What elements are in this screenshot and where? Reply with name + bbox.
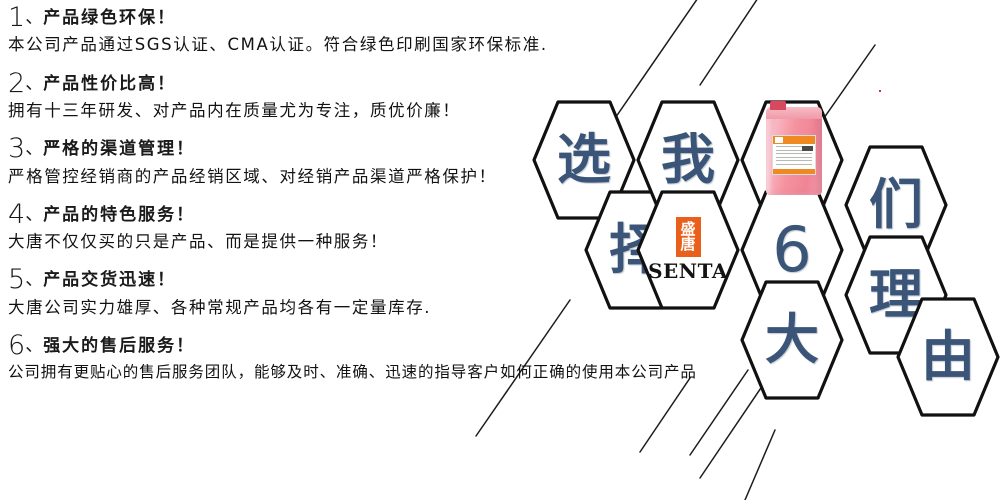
reason-title: 强大的售后服务！ bbox=[43, 336, 195, 356]
label-text-line bbox=[776, 160, 812, 161]
reason-separator: 、 bbox=[25, 335, 43, 356]
jerrycan-label bbox=[772, 135, 816, 175]
reason-separator: 、 bbox=[25, 7, 43, 28]
reason-item: 6、强大的售后服务！ 公司拥有更贴心的售后服务团队，能够及时、准确、迅速的指导客… bbox=[8, 332, 668, 383]
reason-body: 公司拥有更贴心的售后服务团队，能够及时、准确、迅速的指导客户如何正确的使用本公司… bbox=[8, 362, 668, 383]
jerrycan-icon bbox=[766, 107, 822, 195]
reason-number: 1 bbox=[8, 2, 25, 33]
reason-separator: 、 bbox=[25, 73, 43, 94]
reason-title: 产品的特色服务！ bbox=[43, 205, 195, 225]
label-footer-bar bbox=[773, 169, 815, 174]
reason-separator: 、 bbox=[25, 269, 43, 290]
logo-char-bottom: 唐 bbox=[680, 237, 695, 252]
brand-logo: 盛 唐 SENTA bbox=[636, 190, 740, 310]
reason-item: 5、产品交货迅速！ 大唐公司实力雄厚、各种常规产品均各有一定量库存. bbox=[8, 266, 668, 319]
hex-cell-da[interactable]: 大 bbox=[740, 280, 844, 400]
reason-separator: 、 bbox=[25, 204, 43, 225]
product-photo[interactable] bbox=[752, 97, 836, 203]
hex-label: 大 bbox=[740, 280, 844, 400]
reason-body: 大唐公司实力雄厚、各种常规产品均各有一定量库存. bbox=[8, 297, 668, 319]
hex-label: 由 bbox=[896, 297, 1000, 417]
reason-body: 大唐不仅仅买的只是产品、而是提供一种服务！ bbox=[8, 231, 668, 253]
reason-body: 本公司产品通过SGS认证、CMA认证。符合绿色印刷国家环保标准. bbox=[8, 34, 668, 56]
reason-title: 产品绿色环保！ bbox=[43, 8, 176, 28]
reason-number: 6 bbox=[8, 330, 25, 361]
hex-cell-logo[interactable]: 盛 唐 SENTA bbox=[636, 190, 740, 310]
reason-title: 产品性价比高！ bbox=[43, 74, 176, 94]
reason-heading: 1、产品绿色环保！ bbox=[8, 4, 668, 32]
reason-number: 3 bbox=[8, 133, 25, 164]
reason-number: 2 bbox=[8, 68, 25, 99]
logo-seal-icon: 盛 唐 bbox=[676, 217, 701, 257]
reason-title: 产品交货迅速！ bbox=[43, 270, 176, 290]
label-text-line bbox=[776, 153, 812, 154]
label-logo-box bbox=[775, 137, 783, 143]
reason-heading: 5、产品交货迅速！ bbox=[8, 266, 668, 294]
reason-item: 1、产品绿色环保！ 本公司产品通过SGS认证、CMA认证。符合绿色印刷国家环保标… bbox=[8, 4, 668, 57]
hex-cell-you[interactable]: 由 bbox=[896, 297, 1000, 417]
reason-separator: 、 bbox=[25, 138, 43, 159]
red-dot-marker bbox=[879, 90, 881, 92]
reason-heading: 2、产品性价比高！ bbox=[8, 70, 668, 98]
jerrycan-cap bbox=[770, 101, 786, 110]
logo-wordmark: SENTA bbox=[648, 259, 728, 283]
label-text-line bbox=[776, 157, 812, 158]
promo-banner: 1、产品绿色环保！ 本公司产品通过SGS认证、CMA认证。符合绿色印刷国家环保标… bbox=[0, 0, 1000, 500]
label-text-line bbox=[776, 164, 812, 165]
reason-heading: 6、强大的售后服务！ bbox=[8, 332, 668, 360]
label-barcode bbox=[802, 146, 813, 151]
reason-title: 严格的渠道管理！ bbox=[43, 139, 195, 159]
label-header-bar bbox=[773, 136, 815, 144]
reason-number: 4 bbox=[8, 199, 25, 230]
reason-number: 5 bbox=[8, 264, 25, 295]
